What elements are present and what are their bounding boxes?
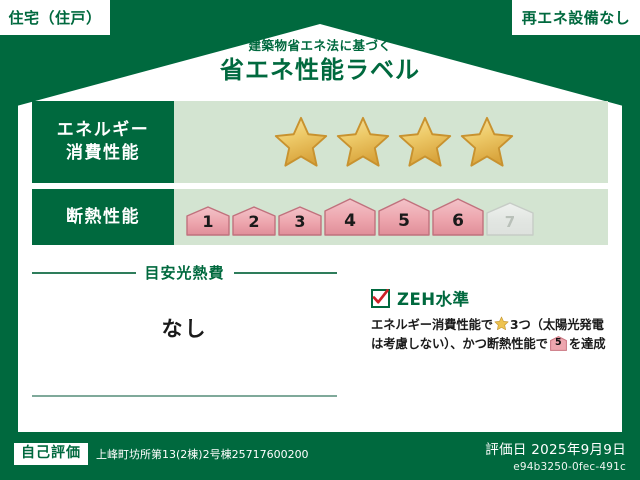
energy-performance-label: エネルギー 消費性能 [32,101,174,183]
insulation-label-line1: 断熱性能 [66,206,140,229]
insulation-badge-inline-value: 5 [550,336,567,351]
star-icon [335,115,391,169]
label-footer: 自己評価 上峰町坊所第13(2棟)2号棟25717600200 評価日 2025… [0,432,640,480]
label-title: 省エネ性能ラベル [0,55,640,85]
energy-performance-label: 住宅（住戸） 再エネ設備なし 建築物省エネ法に基づく 省エネ性能ラベル エネルギ… [0,0,640,480]
insulation-badge-inline: 5 [550,336,567,351]
utility-cost-value: なし [32,313,337,343]
performance-rows: エネルギー 消費性能 断熱性能 1234567 [32,101,608,251]
insulation-level-badge: 4 [324,198,376,236]
zeh-desc-part1: エネルギー消費性能で [371,318,493,332]
self-evaluation-badge: 自己評価 [14,443,88,465]
insulation-level-value: 5 [398,211,410,236]
star-icon [459,115,515,169]
label-subtitle: 建築物省エネ法に基づく [0,38,640,53]
footer-left: 自己評価 上峰町坊所第13(2棟)2号棟25717600200 [14,443,309,465]
label-title-block: 建築物省エネ法に基づく 省エネ性能ラベル [0,38,640,85]
evaluation-date: 評価日 2025年9月9日 [485,438,626,458]
insulation-level-value: 2 [248,212,259,236]
insulation-level-badge: 1 [186,206,230,236]
zeh-desc-part4: を達成 [569,337,606,351]
star-icon [397,115,453,169]
insulation-level-badge: 3 [278,206,322,236]
insulation-level-badge: 6 [432,198,484,236]
zeh-desc-part2: 3つ（太陽光発電 [510,318,604,332]
insulation-performance-value: 1234567 [174,189,608,245]
rule-left [32,272,136,274]
insulation-level-badge: 5 [378,198,430,236]
utility-cost-title: 目安光熱費 [136,262,234,283]
zeh-standard-block: ZEH水準 エネルギー消費性能で3つ（太陽光発電は考慮しない）、かつ断熱性能で5… [371,286,640,354]
document-id: e94b3250-0fec-491c [485,461,626,473]
utility-cost-header: 目安光熱費 [32,262,337,283]
zeh-description: エネルギー消費性能で3つ（太陽光発電は考慮しない）、かつ断熱性能で5を達成 [371,316,640,354]
renewable-energy-tag-label: 再エネ設備なし [522,7,631,28]
utility-cost-bottom-rule [32,395,337,397]
energy-label-line1: エネルギー [57,119,150,142]
star-icon [494,316,509,331]
insulation-level-value: 3 [294,212,305,236]
zeh-desc-part3: は考慮しない）、かつ断熱性能で [371,337,548,351]
checkbox-checked-icon [371,289,390,308]
energy-performance-value [174,101,608,183]
insulation-level-badge: 7 [486,202,534,236]
zeh-title: ZEH水準 [397,286,470,310]
building-type-tag-label: 住宅（住戸） [8,7,101,28]
insulation-level-scale: 1234567 [186,198,534,236]
zeh-header: ZEH水準 [371,286,640,310]
star-icon [273,115,329,169]
insulation-level-badge: 2 [232,206,276,236]
insulation-level-value: 1 [202,212,213,236]
energy-performance-row: エネルギー 消費性能 [32,101,608,183]
insulation-level-value: 4 [344,211,356,236]
insulation-performance-label: 断熱性能 [32,189,174,245]
insulation-performance-row: 断熱性能 1234567 [32,189,608,245]
energy-label-line2: 消費性能 [66,142,140,165]
insulation-level-value: 6 [452,211,464,236]
star-rating [273,115,515,169]
property-address: 上峰町坊所第13(2棟)2号棟25717600200 [96,446,309,462]
renewable-energy-tag: 再エネ設備なし [512,0,640,35]
footer-right: 評価日 2025年9月9日 e94b3250-0fec-491c [485,438,626,473]
rule-right [234,272,338,274]
details-section: 目安光熱費 なし ZEH水準 エネルギー消費性能で3つ（太陽光発電は考慮しない）… [32,262,608,397]
insulation-level-value: 7 [505,213,515,236]
building-type-tag: 住宅（住戸） [0,0,110,35]
